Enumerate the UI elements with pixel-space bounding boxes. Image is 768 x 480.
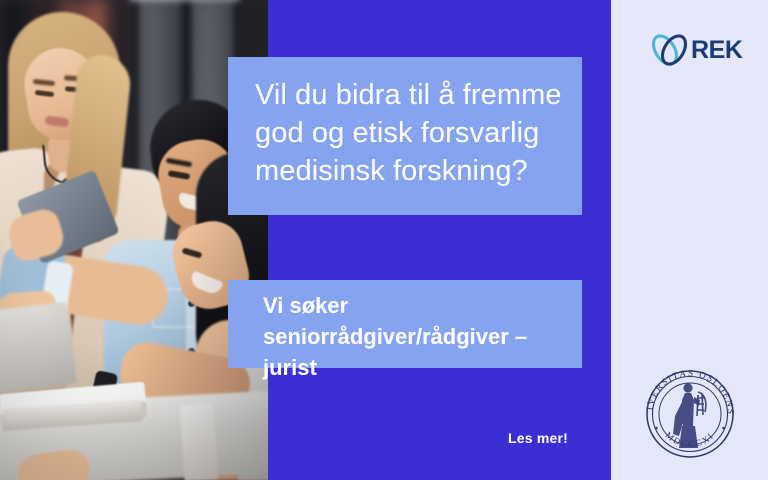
seal-lyre [697, 392, 706, 416]
read-more-link[interactable]: Les mer! [508, 430, 568, 446]
rek-interlocking-loops-icon [648, 28, 690, 72]
rek-wordmark: REK [691, 36, 743, 65]
headline-text: Vil du bidra til å fremme god og etisk f… [255, 76, 575, 190]
university-of-oslo-seal[interactable]: UNIVERSITAS OSLOENSIS MDCCCXI [638, 362, 742, 466]
rek-logo[interactable]: REK [648, 26, 744, 74]
role-text: Vi søker seniorrådgiver/rådgiver – juris… [263, 290, 583, 383]
recruitment-banner: Vil du bidra til å fremme god og etisk f… [0, 0, 768, 480]
